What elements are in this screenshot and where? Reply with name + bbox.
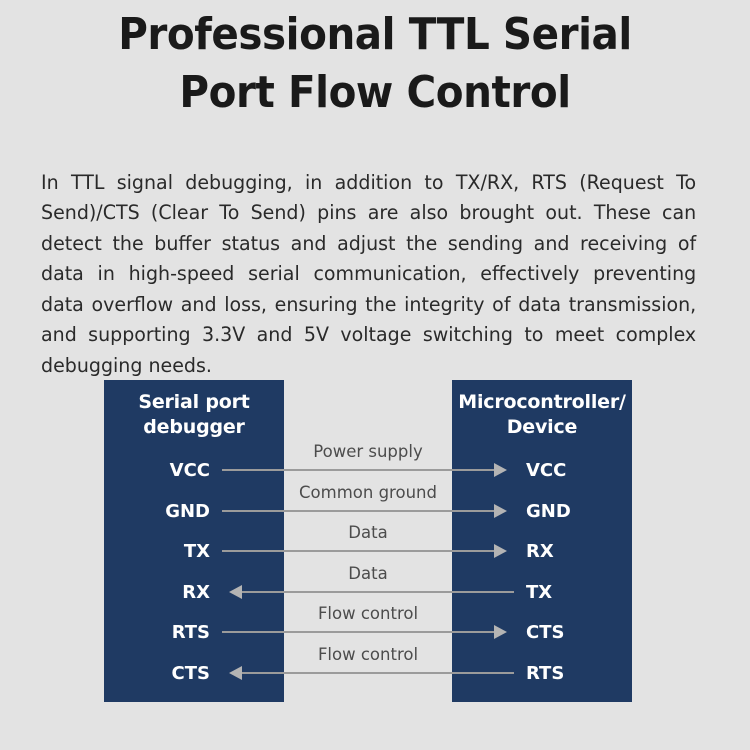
description-paragraph: In TTL signal debugging, in addition to … [41, 168, 696, 382]
microcontroller-device-title: Microcontroller/ Device [452, 390, 632, 440]
serial-port-debugger-panel: Serial port debugger VCC GND TX RX RTS C… [104, 380, 284, 702]
right-pin-gnd: GND [526, 503, 571, 521]
right-pin-cts: CTS [526, 624, 564, 642]
right-pin-rx: RX [526, 543, 554, 561]
microcontroller-device-title-line-1: Microcontroller/ [452, 390, 632, 415]
signal-flow-diagram: Serial port debugger VCC GND TX RX RTS C… [104, 380, 632, 702]
right-pin-rts: RTS [526, 665, 564, 683]
page-title: Professional TTL Serial Port Flow Contro… [30, 6, 720, 122]
left-pin-gnd: GND [165, 503, 210, 521]
page-title-line-1: Professional TTL Serial [30, 6, 720, 64]
page-title-line-2: Port Flow Control [30, 64, 720, 122]
left-pin-rx: RX [182, 584, 210, 602]
left-pin-vcc: VCC [170, 462, 210, 480]
microcontroller-device-title-line-2: Device [452, 415, 632, 440]
left-pin-tx: TX [184, 543, 210, 561]
serial-port-debugger-title: Serial port debugger [104, 390, 284, 440]
left-pin-rts: RTS [172, 624, 210, 642]
serial-port-debugger-title-line-2: debugger [104, 415, 284, 440]
left-pin-cts: CTS [172, 665, 210, 683]
microcontroller-device-panel: Microcontroller/ Device VCC GND RX TX CT… [452, 380, 632, 702]
right-pin-vcc: VCC [526, 462, 566, 480]
serial-port-debugger-title-line-1: Serial port [104, 390, 284, 415]
right-pin-tx: TX [526, 584, 552, 602]
